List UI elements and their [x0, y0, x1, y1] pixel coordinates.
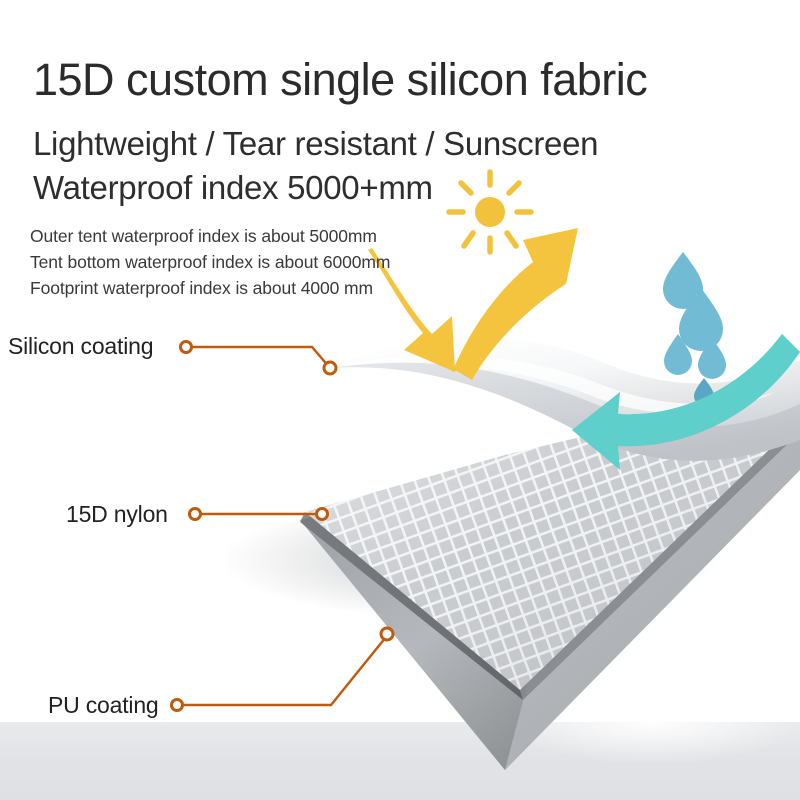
spec-line-outer-tent: Outer tent waterproof index is about 500…: [30, 226, 377, 247]
subtitle-waterproof-index: Waterproof index 5000+mm: [33, 170, 433, 206]
curved-arrow-water-repel-icon: [0, 0, 800, 800]
callout-label-15d-nylon: 15D nylon: [66, 501, 168, 528]
callout-label-silicon-coating: Silicon coating: [8, 333, 153, 360]
page-title: 15D custom single silicon fabric: [33, 56, 647, 105]
spec-line-footprint: Footprint waterproof index is about 4000…: [30, 278, 373, 299]
subtitle-features: Lightweight / Tear resistant / Sunscreen: [33, 126, 598, 162]
callout-label-pu-coating: PU coating: [48, 692, 159, 719]
infographic-canvas: 15D custom single silicon fabric Lightwe…: [0, 0, 800, 800]
spec-line-tent-bottom: Tent bottom waterproof index is about 60…: [30, 252, 390, 273]
